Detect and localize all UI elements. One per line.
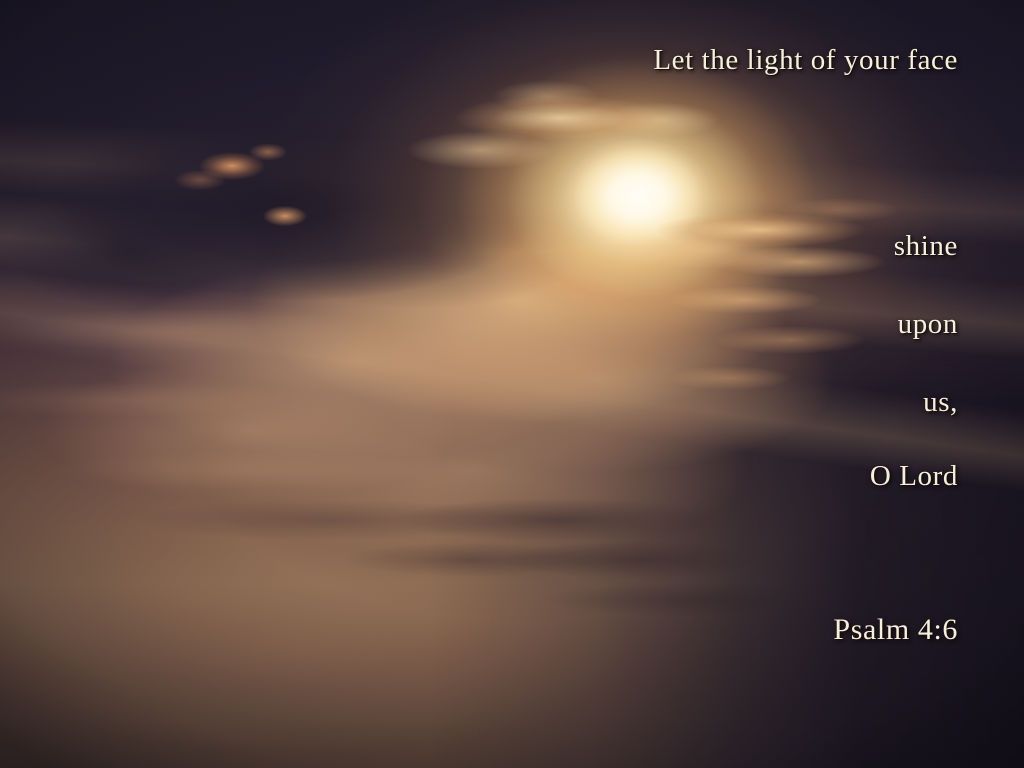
lower-haze-layer <box>0 0 1024 768</box>
verse-line-3: upon <box>898 308 958 341</box>
sunlit-cloud-mass-layer <box>0 0 1024 768</box>
upper-dark-sky-layer <box>0 0 1024 768</box>
sun-core <box>0 0 1024 768</box>
sun-mid-glow <box>0 0 1024 768</box>
right-cloud-streaks-layer <box>0 0 1024 768</box>
right-dark-sky-layer <box>0 0 1024 768</box>
verse-line-4: us, <box>923 386 958 419</box>
verse-line-1: Let the light of your face <box>653 44 958 77</box>
film-grain-layer <box>0 0 1024 768</box>
sunset-verse-image: Let the light of your face shine upon us… <box>0 0 1024 768</box>
verse-line-2: shine <box>894 230 958 263</box>
orange-cloud-puffs-layer <box>0 0 1024 768</box>
verse-reference: Psalm 4:6 <box>833 613 958 647</box>
dark-cloud-bank-layer <box>0 0 1024 768</box>
lower-dark-cloud-bands-layer <box>0 0 1024 768</box>
sky-background-layer <box>0 0 1024 768</box>
left-cloud-streaks-layer <box>0 0 1024 768</box>
verse-line-5: O Lord <box>870 460 958 493</box>
cloud-rim-light-layer <box>0 0 1024 768</box>
sun-outer-glow <box>0 0 1024 768</box>
vignette-layer <box>0 0 1024 768</box>
